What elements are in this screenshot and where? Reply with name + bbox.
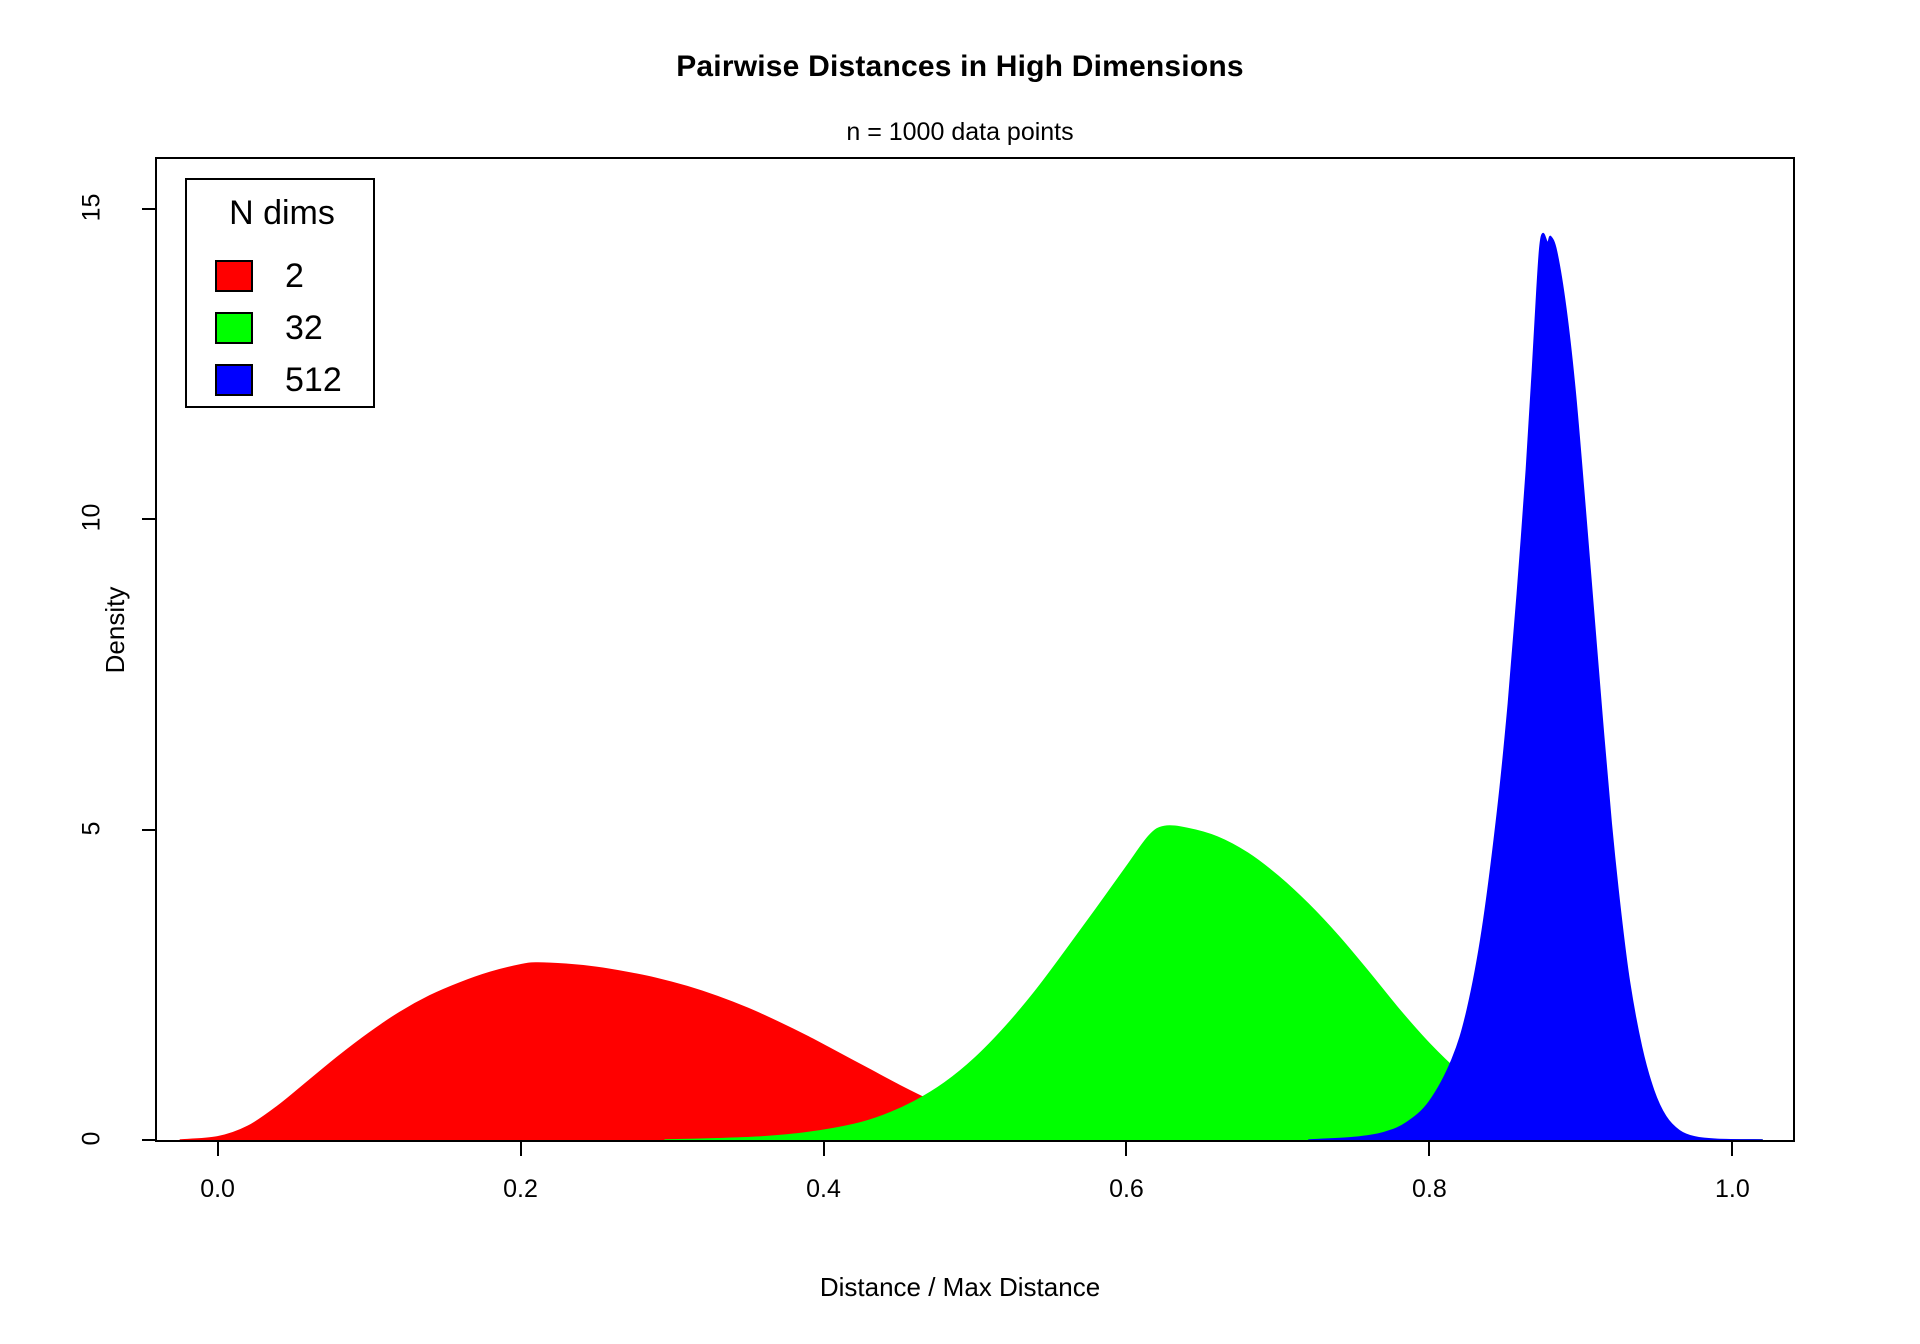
y-tick-label: 15 xyxy=(78,177,107,237)
x-tick-mark xyxy=(217,1142,219,1156)
y-tick-mark xyxy=(142,1139,155,1141)
x-tick-label: 0.8 xyxy=(1379,1175,1479,1204)
x-axis-label: Distance / Max Distance xyxy=(0,1272,1920,1303)
x-tick-mark xyxy=(1731,1142,1733,1156)
y-tick-label: 0 xyxy=(78,1109,107,1169)
x-tick-mark xyxy=(520,1142,522,1156)
y-tick-label: 10 xyxy=(78,488,107,548)
x-tick-label: 0.6 xyxy=(1076,1175,1176,1204)
chart-subtitle: n = 1000 data points xyxy=(0,118,1920,147)
y-tick-label: 5 xyxy=(78,798,107,858)
y-tick-mark xyxy=(142,829,155,831)
x-tick-mark xyxy=(1428,1142,1430,1156)
legend-swatch-icon xyxy=(215,260,253,292)
x-tick-label: 0.0 xyxy=(168,1175,268,1204)
page-title: Pairwise Distances in High Dimensions xyxy=(0,50,1920,84)
x-tick-mark xyxy=(1125,1142,1127,1156)
density-curves xyxy=(157,159,1793,1140)
legend-item-label: 512 xyxy=(285,363,342,397)
x-tick-label: 1.0 xyxy=(1682,1175,1782,1204)
legend-swatch-icon xyxy=(215,364,253,396)
y-tick-mark xyxy=(142,518,155,520)
y-tick-mark xyxy=(142,208,155,210)
legend-item-label: 32 xyxy=(285,311,323,345)
x-tick-label: 0.4 xyxy=(774,1175,874,1204)
chart-page: Pairwise Distances in High Dimensions n … xyxy=(0,0,1920,1344)
legend[interactable]: N dims 232512 xyxy=(185,178,375,408)
legend-item-512[interactable]: 512 xyxy=(215,356,365,404)
legend-item-label: 2 xyxy=(285,259,304,293)
legend-swatch-icon xyxy=(215,312,253,344)
legend-title: N dims xyxy=(187,194,377,233)
x-tick-label: 0.2 xyxy=(471,1175,571,1204)
y-axis-label: Density xyxy=(100,530,131,730)
legend-item-2[interactable]: 2 xyxy=(215,252,365,300)
legend-item-32[interactable]: 32 xyxy=(215,304,365,352)
x-tick-mark xyxy=(823,1142,825,1156)
